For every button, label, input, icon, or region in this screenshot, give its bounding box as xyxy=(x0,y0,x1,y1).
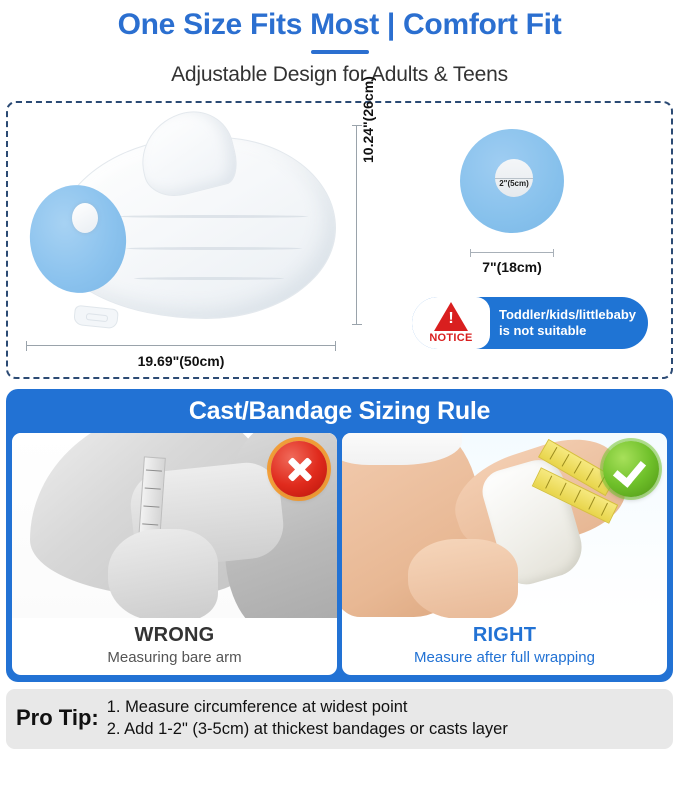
notice-message-line1: Toddler/kids/littlebaby xyxy=(499,307,636,323)
comparison-section: Cast/Bandage Sizing Rule xyxy=(6,389,673,682)
dimension-cap-left xyxy=(470,249,471,257)
dimension-cap-right xyxy=(335,341,336,351)
comparison-card-right: RIGHT Measure after full wrapping xyxy=(342,433,667,675)
title-divider xyxy=(311,50,369,54)
comparison-title: Cast/Bandage Sizing Rule xyxy=(12,395,667,433)
pro-tip-section: Pro Tip: 1. Measure circumference at wid… xyxy=(6,689,673,749)
tape-tick xyxy=(586,468,594,481)
page-subtitle: Adjustable Design for Adults & Teens xyxy=(0,63,679,87)
photo-bare-arm-measurement xyxy=(12,433,337,618)
caption-wrong: WRONG Measuring bare arm xyxy=(12,618,337,675)
dimension-bar xyxy=(470,252,554,253)
verdict-description: Measuring bare arm xyxy=(16,649,333,666)
photo-wrapped-arm-measurement xyxy=(342,433,667,618)
tape-tick xyxy=(588,497,595,510)
verdict-description: Measure after full wrapping xyxy=(346,649,663,666)
pro-tip-item: 1. Measure circumference at widest point xyxy=(107,696,508,718)
verdict-label: WRONG xyxy=(16,624,333,647)
dimension-bar xyxy=(26,345,336,346)
dimension-bar xyxy=(356,125,357,325)
hand-shape xyxy=(108,529,218,618)
comparison-card-wrong: WRONG Measuring bare arm xyxy=(12,433,337,675)
tape-tick xyxy=(601,503,608,516)
opening-dimension-line xyxy=(470,249,554,257)
cast-seam xyxy=(126,247,302,250)
tape-tick xyxy=(574,461,582,474)
notice-message: Toddler/kids/littlebaby is not suitable xyxy=(490,307,636,340)
opening-inner-label: 2"(5cm) xyxy=(495,179,533,188)
notice-message-line2: is not suitable xyxy=(499,323,636,339)
notice-label: NOTICE xyxy=(429,332,472,344)
opening-diagram: 2"(5cm) xyxy=(460,129,564,233)
opening-inner-circle: 2"(5cm) xyxy=(495,159,533,197)
tape-tick xyxy=(146,470,162,472)
tape-tick xyxy=(143,505,159,507)
check-icon xyxy=(616,454,646,484)
notice-warning-block: NOTICE xyxy=(412,297,490,349)
dimension-cap-bottom xyxy=(352,324,362,325)
cast-seam xyxy=(134,277,284,280)
check-badge xyxy=(603,441,659,497)
dimension-cap-right xyxy=(553,249,554,257)
tape-tick xyxy=(142,523,158,525)
notice-badge: NOTICE Toddler/kids/littlebaby is not su… xyxy=(412,297,648,349)
spec-panel: 19.69"(50cm) 10.24"(26cm) 2"(5cm) 7"(18c… xyxy=(6,101,673,379)
comparison-grid: WRONG Measuring bare arm xyxy=(12,433,667,675)
cast-seam xyxy=(118,215,308,218)
tape-tick xyxy=(574,490,581,503)
tape-tick xyxy=(145,488,161,490)
seal-opening xyxy=(72,203,98,233)
tape-tick xyxy=(560,483,567,496)
page-title: One Size Fits Most | Comfort Fit xyxy=(0,8,679,41)
width-dimension-label: 19.69"(50cm) xyxy=(26,353,336,369)
width-dimension-line xyxy=(26,341,336,351)
cast-pull-tab xyxy=(73,305,119,329)
height-dimension-label: 10.24"(26cm) xyxy=(360,76,376,163)
caption-right: RIGHT Measure after full wrapping xyxy=(342,618,667,675)
opening-dimension-label: 7"(18cm) xyxy=(460,259,564,275)
pro-tip-label: Pro Tip: xyxy=(16,705,107,731)
pro-tip-item: 2. Add 1-2" (3-5cm) at thickest bandages… xyxy=(107,718,508,740)
tape-tick xyxy=(550,447,558,460)
warning-triangle-icon xyxy=(434,302,468,331)
tape-tick xyxy=(545,476,552,489)
product-illustration xyxy=(22,111,352,341)
cross-icon xyxy=(284,454,314,484)
cross-badge xyxy=(271,441,327,497)
header: One Size Fits Most | Comfort Fit Adjusta… xyxy=(0,0,679,87)
dimension-cap-left xyxy=(26,341,27,351)
tape-tick xyxy=(562,454,570,467)
hand-shape xyxy=(408,539,518,618)
pro-tip-list: 1. Measure circumference at widest point… xyxy=(107,696,508,741)
verdict-label: RIGHT xyxy=(346,624,663,647)
